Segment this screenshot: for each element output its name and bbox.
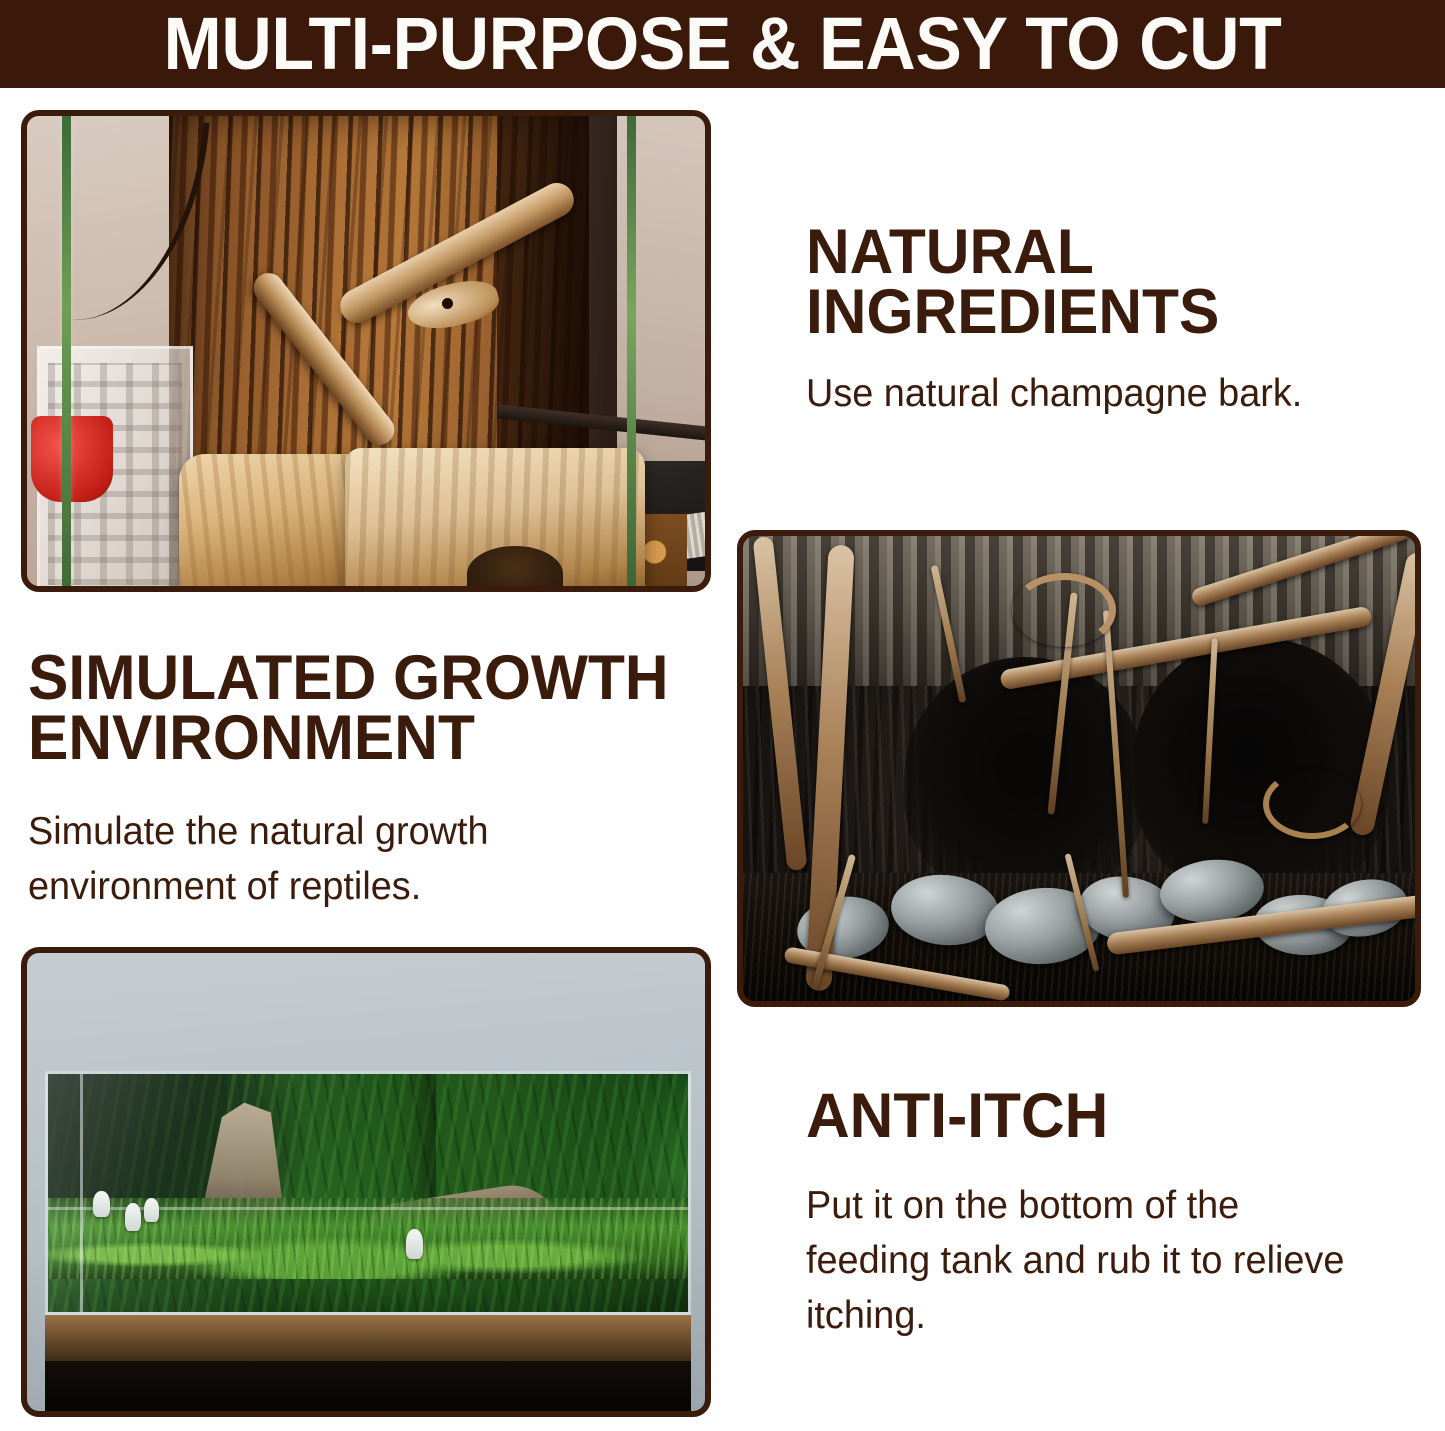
feature-heading: NATURAL INGREDIENTS <box>806 222 1382 342</box>
feature-heading-line-2: INGREDIENTS <box>806 282 1382 342</box>
terrarium-gecko-scene <box>27 116 705 586</box>
gecko-eye <box>442 298 453 309</box>
feature-heading: ANTI-ITCH <box>806 1086 1344 1146</box>
terrarium-roots-scene <box>743 536 1415 1001</box>
terrarium-glass-edge-left <box>62 116 71 586</box>
feature-body-text: Use natural champagne bark. <box>806 366 1388 421</box>
terrarium-glass-edge-right <box>627 116 636 586</box>
wooden-shelf <box>45 1315 691 1361</box>
curved-root-loop <box>1263 769 1361 839</box>
feature-anti-itch: ANTI-ITCH Put it on the bottom of the fe… <box>806 1086 1366 1343</box>
red-cup <box>31 416 113 502</box>
feature-heading-line-1: NATURAL <box>806 222 1382 282</box>
feature-heading-line-2: ENVIRONMENT <box>28 708 690 768</box>
feature-heading-line-1: SIMULATED GROWTH <box>28 648 690 708</box>
feature-body-text: Put it on the bottom of the feeding tank… <box>806 1178 1349 1343</box>
glass-corner-edge <box>80 1074 83 1312</box>
glass-vivarium <box>45 1071 691 1315</box>
header-banner: MULTI-PURPOSE & EASY TO CUT <box>0 0 1445 88</box>
banner-title: MULTI-PURPOSE & EASY TO CUT <box>40 7 1406 81</box>
feature-simulated-growth-environment: SIMULATED GROWTH ENVIRONMENT Simulate th… <box>28 648 718 914</box>
miniature-figure <box>406 1229 423 1259</box>
photo-panel-terrarium-moss <box>21 947 711 1417</box>
miniature-figure <box>125 1203 141 1231</box>
curved-root-loop <box>1012 573 1116 647</box>
feature-heading-line-1: ANTI-ITCH <box>806 1086 1344 1146</box>
feature-body-text: Simulate the natural growth environment … <box>28 804 697 914</box>
bark-hollow-right <box>1133 638 1388 898</box>
miniature-figure <box>144 1198 159 1222</box>
miniature-figure <box>93 1191 110 1217</box>
photo-panel-terrarium-gecko <box>21 110 711 592</box>
terrarium-moss-scene <box>27 953 705 1411</box>
feature-natural-ingredients: NATURAL INGREDIENTS Use natural champagn… <box>806 222 1406 421</box>
photo-panel-terrarium-roots <box>737 530 1421 1007</box>
feature-heading: SIMULATED GROWTH ENVIRONMENT <box>28 648 690 768</box>
